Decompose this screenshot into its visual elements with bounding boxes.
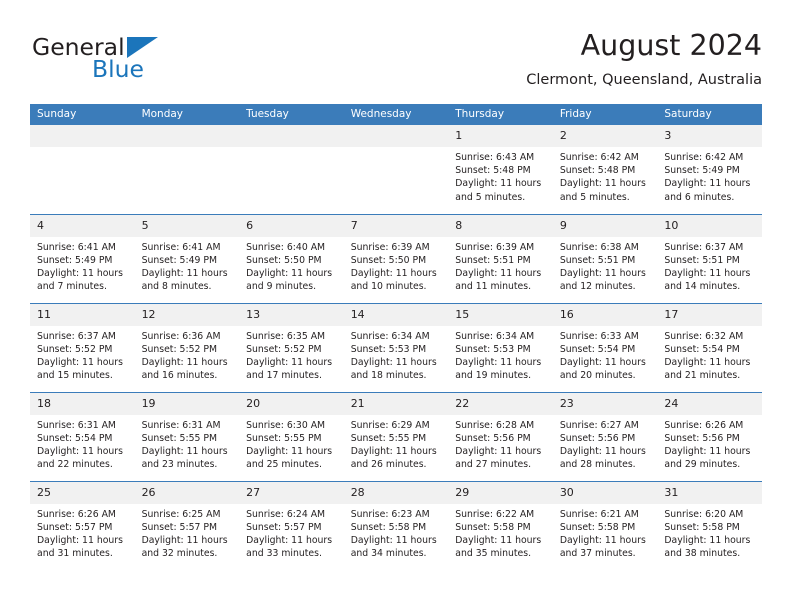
- day-details: Sunrise: 6:24 AMSunset: 5:57 PMDaylight:…: [239, 504, 344, 561]
- calendar-day-cell[interactable]: 18Sunrise: 6:31 AMSunset: 5:54 PMDayligh…: [30, 392, 135, 481]
- daylight-text: Daylight: 11 hours and 25 minutes.: [246, 445, 338, 471]
- sunset-text: Sunset: 5:52 PM: [246, 343, 338, 356]
- daylight-text: Daylight: 11 hours and 26 minutes.: [351, 445, 443, 471]
- daylight-text: Daylight: 11 hours and 19 minutes.: [455, 356, 547, 382]
- day-details: Sunrise: 6:43 AMSunset: 5:48 PMDaylight:…: [448, 147, 553, 204]
- day-number: 12: [135, 304, 240, 326]
- day-number: 15: [448, 304, 553, 326]
- day-details: Sunrise: 6:34 AMSunset: 5:53 PMDaylight:…: [448, 326, 553, 383]
- sunrise-text: Sunrise: 6:43 AM: [455, 151, 547, 164]
- sunset-text: Sunset: 5:54 PM: [37, 432, 129, 445]
- daylight-text: Daylight: 11 hours and 37 minutes.: [560, 534, 652, 560]
- sunrise-text: Sunrise: 6:25 AM: [142, 508, 234, 521]
- calendar-week-row: 25Sunrise: 6:26 AMSunset: 5:57 PMDayligh…: [30, 481, 762, 570]
- daylight-text: Daylight: 11 hours and 28 minutes.: [560, 445, 652, 471]
- day-number: 20: [239, 393, 344, 415]
- day-number: 14: [344, 304, 449, 326]
- day-details: Sunrise: 6:22 AMSunset: 5:58 PMDaylight:…: [448, 504, 553, 561]
- daylight-text: Daylight: 11 hours and 12 minutes.: [560, 267, 652, 293]
- day-details: Sunrise: 6:30 AMSunset: 5:55 PMDaylight:…: [239, 415, 344, 472]
- day-number: 24: [657, 393, 762, 415]
- sunrise-text: Sunrise: 6:35 AM: [246, 330, 338, 343]
- daylight-text: Daylight: 11 hours and 11 minutes.: [455, 267, 547, 293]
- sunset-text: Sunset: 5:51 PM: [664, 254, 756, 267]
- daylight-text: Daylight: 11 hours and 5 minutes.: [455, 177, 547, 203]
- calendar-day-cell[interactable]: 5Sunrise: 6:41 AMSunset: 5:49 PMDaylight…: [135, 214, 240, 303]
- calendar-day-cell[interactable]: 27Sunrise: 6:24 AMSunset: 5:57 PMDayligh…: [239, 481, 344, 570]
- day-details: Sunrise: 6:20 AMSunset: 5:58 PMDaylight:…: [657, 504, 762, 561]
- day-details: Sunrise: 6:26 AMSunset: 5:57 PMDaylight:…: [30, 504, 135, 561]
- day-number: 19: [135, 393, 240, 415]
- sunrise-text: Sunrise: 6:32 AM: [664, 330, 756, 343]
- brand-name-blue: Blue: [92, 56, 144, 82]
- sunset-text: Sunset: 5:53 PM: [351, 343, 443, 356]
- day-number: 10: [657, 215, 762, 237]
- sunset-text: Sunset: 5:51 PM: [455, 254, 547, 267]
- day-number: 9: [553, 215, 658, 237]
- calendar-day-cell[interactable]: 17Sunrise: 6:32 AMSunset: 5:54 PMDayligh…: [657, 303, 762, 392]
- sunset-text: Sunset: 5:55 PM: [351, 432, 443, 445]
- daylight-text: Daylight: 11 hours and 22 minutes.: [37, 445, 129, 471]
- sunrise-text: Sunrise: 6:38 AM: [560, 241, 652, 254]
- calendar-day-cell-empty: [30, 125, 135, 214]
- calendar-day-cell[interactable]: 8Sunrise: 6:39 AMSunset: 5:51 PMDaylight…: [448, 214, 553, 303]
- daylight-text: Daylight: 11 hours and 14 minutes.: [664, 267, 756, 293]
- sunset-text: Sunset: 5:57 PM: [142, 521, 234, 534]
- calendar-day-cell[interactable]: 31Sunrise: 6:20 AMSunset: 5:58 PMDayligh…: [657, 481, 762, 570]
- calendar-day-cell[interactable]: 7Sunrise: 6:39 AMSunset: 5:50 PMDaylight…: [344, 214, 449, 303]
- day-details: Sunrise: 6:41 AMSunset: 5:49 PMDaylight:…: [135, 237, 240, 294]
- day-details: Sunrise: 6:26 AMSunset: 5:56 PMDaylight:…: [657, 415, 762, 472]
- calendar-day-cell[interactable]: 1Sunrise: 6:43 AMSunset: 5:48 PMDaylight…: [448, 125, 553, 214]
- weekday-header-monday: Monday: [135, 104, 240, 125]
- calendar-week-row: 18Sunrise: 6:31 AMSunset: 5:54 PMDayligh…: [30, 392, 762, 481]
- day-details: Sunrise: 6:41 AMSunset: 5:49 PMDaylight:…: [30, 237, 135, 294]
- sunrise-text: Sunrise: 6:39 AM: [351, 241, 443, 254]
- day-number: 26: [135, 482, 240, 504]
- day-number: [344, 125, 449, 147]
- day-number: 2: [553, 125, 658, 147]
- daylight-text: Daylight: 11 hours and 27 minutes.: [455, 445, 547, 471]
- day-number: [239, 125, 344, 147]
- calendar-day-cell[interactable]: 12Sunrise: 6:36 AMSunset: 5:52 PMDayligh…: [135, 303, 240, 392]
- day-details: Sunrise: 6:34 AMSunset: 5:53 PMDaylight:…: [344, 326, 449, 383]
- day-number: 8: [448, 215, 553, 237]
- day-details: Sunrise: 6:29 AMSunset: 5:55 PMDaylight:…: [344, 415, 449, 472]
- sunset-text: Sunset: 5:51 PM: [560, 254, 652, 267]
- sunrise-text: Sunrise: 6:42 AM: [664, 151, 756, 164]
- day-details: Sunrise: 6:38 AMSunset: 5:51 PMDaylight:…: [553, 237, 658, 294]
- sunrise-text: Sunrise: 6:34 AM: [351, 330, 443, 343]
- calendar-day-cell[interactable]: 9Sunrise: 6:38 AMSunset: 5:51 PMDaylight…: [553, 214, 658, 303]
- sunset-text: Sunset: 5:49 PM: [142, 254, 234, 267]
- sunset-text: Sunset: 5:56 PM: [664, 432, 756, 445]
- day-number: 16: [553, 304, 658, 326]
- day-number: [135, 125, 240, 147]
- sunset-text: Sunset: 5:58 PM: [560, 521, 652, 534]
- calendar-day-cell[interactable]: 28Sunrise: 6:23 AMSunset: 5:58 PMDayligh…: [344, 481, 449, 570]
- brand-logo[interactable]: General Blue: [32, 34, 252, 92]
- daylight-text: Daylight: 11 hours and 31 minutes.: [37, 534, 129, 560]
- daylight-text: Daylight: 11 hours and 5 minutes.: [560, 177, 652, 203]
- sunset-text: Sunset: 5:55 PM: [246, 432, 338, 445]
- sunset-text: Sunset: 5:48 PM: [455, 164, 547, 177]
- sunset-text: Sunset: 5:57 PM: [246, 521, 338, 534]
- calendar-grid: SundayMondayTuesdayWednesdayThursdayFrid…: [30, 104, 762, 570]
- daylight-text: Daylight: 11 hours and 6 minutes.: [664, 177, 756, 203]
- day-number: 29: [448, 482, 553, 504]
- sunrise-text: Sunrise: 6:21 AM: [560, 508, 652, 521]
- day-number: 27: [239, 482, 344, 504]
- calendar-table: SundayMondayTuesdayWednesdayThursdayFrid…: [30, 104, 762, 570]
- daylight-text: Daylight: 11 hours and 20 minutes.: [560, 356, 652, 382]
- daylight-text: Daylight: 11 hours and 10 minutes.: [351, 267, 443, 293]
- calendar-day-cell[interactable]: 2Sunrise: 6:42 AMSunset: 5:48 PMDaylight…: [553, 125, 658, 214]
- day-details: Sunrise: 6:42 AMSunset: 5:48 PMDaylight:…: [553, 147, 658, 204]
- calendar-day-cell-empty: [344, 125, 449, 214]
- calendar-week-row: 1Sunrise: 6:43 AMSunset: 5:48 PMDaylight…: [30, 125, 762, 214]
- day-details: Sunrise: 6:42 AMSunset: 5:49 PMDaylight:…: [657, 147, 762, 204]
- calendar-week-row: 11Sunrise: 6:37 AMSunset: 5:52 PMDayligh…: [30, 303, 762, 392]
- sunset-text: Sunset: 5:58 PM: [351, 521, 443, 534]
- day-details: Sunrise: 6:36 AMSunset: 5:52 PMDaylight:…: [135, 326, 240, 383]
- sunrise-text: Sunrise: 6:26 AM: [37, 508, 129, 521]
- calendar-day-cell[interactable]: 6Sunrise: 6:40 AMSunset: 5:50 PMDaylight…: [239, 214, 344, 303]
- day-number: [30, 125, 135, 147]
- day-number: 23: [553, 393, 658, 415]
- calendar-day-cell[interactable]: 19Sunrise: 6:31 AMSunset: 5:55 PMDayligh…: [135, 392, 240, 481]
- sunset-text: Sunset: 5:58 PM: [455, 521, 547, 534]
- calendar-day-cell[interactable]: 11Sunrise: 6:37 AMSunset: 5:52 PMDayligh…: [30, 303, 135, 392]
- sunrise-text: Sunrise: 6:28 AM: [455, 419, 547, 432]
- day-number: 31: [657, 482, 762, 504]
- day-details: Sunrise: 6:21 AMSunset: 5:58 PMDaylight:…: [553, 504, 658, 561]
- day-number: 25: [30, 482, 135, 504]
- day-details: Sunrise: 6:37 AMSunset: 5:51 PMDaylight:…: [657, 237, 762, 294]
- calendar-day-cell[interactable]: 23Sunrise: 6:27 AMSunset: 5:56 PMDayligh…: [553, 392, 658, 481]
- daylight-text: Daylight: 11 hours and 32 minutes.: [142, 534, 234, 560]
- sunset-text: Sunset: 5:50 PM: [246, 254, 338, 267]
- sunrise-text: Sunrise: 6:42 AM: [560, 151, 652, 164]
- sunrise-text: Sunrise: 6:31 AM: [142, 419, 234, 432]
- calendar-day-cell-empty: [239, 125, 344, 214]
- sunset-text: Sunset: 5:56 PM: [560, 432, 652, 445]
- day-details: Sunrise: 6:32 AMSunset: 5:54 PMDaylight:…: [657, 326, 762, 383]
- day-number: 21: [344, 393, 449, 415]
- day-number: 30: [553, 482, 658, 504]
- daylight-text: Daylight: 11 hours and 7 minutes.: [37, 267, 129, 293]
- day-number: 22: [448, 393, 553, 415]
- sunset-text: Sunset: 5:57 PM: [37, 521, 129, 534]
- weekday-header-wednesday: Wednesday: [344, 104, 449, 125]
- sunrise-text: Sunrise: 6:37 AM: [664, 241, 756, 254]
- day-number: 5: [135, 215, 240, 237]
- calendar-header-row: SundayMondayTuesdayWednesdayThursdayFrid…: [30, 104, 762, 125]
- calendar-page: General Blue August 2024 Clermont, Queen…: [0, 0, 792, 612]
- sunset-text: Sunset: 5:49 PM: [37, 254, 129, 267]
- daylight-text: Daylight: 11 hours and 23 minutes.: [142, 445, 234, 471]
- sunrise-text: Sunrise: 6:36 AM: [142, 330, 234, 343]
- day-number: 3: [657, 125, 762, 147]
- sunrise-text: Sunrise: 6:30 AM: [246, 419, 338, 432]
- calendar-day-cell[interactable]: 22Sunrise: 6:28 AMSunset: 5:56 PMDayligh…: [448, 392, 553, 481]
- day-number: 18: [30, 393, 135, 415]
- day-number: 11: [30, 304, 135, 326]
- sunset-text: Sunset: 5:52 PM: [37, 343, 129, 356]
- calendar-day-cell[interactable]: 25Sunrise: 6:26 AMSunset: 5:57 PMDayligh…: [30, 481, 135, 570]
- sunrise-text: Sunrise: 6:33 AM: [560, 330, 652, 343]
- sunrise-text: Sunrise: 6:23 AM: [351, 508, 443, 521]
- sunset-text: Sunset: 5:50 PM: [351, 254, 443, 267]
- calendar-day-cell[interactable]: 26Sunrise: 6:25 AMSunset: 5:57 PMDayligh…: [135, 481, 240, 570]
- weekday-header-saturday: Saturday: [657, 104, 762, 125]
- page-header: General Blue August 2024 Clermont, Queen…: [30, 28, 762, 96]
- sunrise-text: Sunrise: 6:29 AM: [351, 419, 443, 432]
- weekday-header-friday: Friday: [553, 104, 658, 125]
- day-details: Sunrise: 6:35 AMSunset: 5:52 PMDaylight:…: [239, 326, 344, 383]
- sunrise-text: Sunrise: 6:20 AM: [664, 508, 756, 521]
- daylight-text: Daylight: 11 hours and 33 minutes.: [246, 534, 338, 560]
- calendar-day-cell[interactable]: 20Sunrise: 6:30 AMSunset: 5:55 PMDayligh…: [239, 392, 344, 481]
- day-details: Sunrise: 6:33 AMSunset: 5:54 PMDaylight:…: [553, 326, 658, 383]
- day-details: Sunrise: 6:23 AMSunset: 5:58 PMDaylight:…: [344, 504, 449, 561]
- sunrise-text: Sunrise: 6:41 AM: [37, 241, 129, 254]
- daylight-text: Daylight: 11 hours and 29 minutes.: [664, 445, 756, 471]
- day-details: Sunrise: 6:25 AMSunset: 5:57 PMDaylight:…: [135, 504, 240, 561]
- day-number: 7: [344, 215, 449, 237]
- day-number: 1: [448, 125, 553, 147]
- sunrise-text: Sunrise: 6:27 AM: [560, 419, 652, 432]
- sunset-text: Sunset: 5:53 PM: [455, 343, 547, 356]
- calendar-day-cell[interactable]: 30Sunrise: 6:21 AMSunset: 5:58 PMDayligh…: [553, 481, 658, 570]
- calendar-body: 1Sunrise: 6:43 AMSunset: 5:48 PMDaylight…: [30, 125, 762, 570]
- title-block: August 2024 Clermont, Queensland, Austra…: [526, 28, 762, 89]
- sunrise-text: Sunrise: 6:22 AM: [455, 508, 547, 521]
- day-details: Sunrise: 6:27 AMSunset: 5:56 PMDaylight:…: [553, 415, 658, 472]
- day-details: Sunrise: 6:28 AMSunset: 5:56 PMDaylight:…: [448, 415, 553, 472]
- day-number: 6: [239, 215, 344, 237]
- daylight-text: Daylight: 11 hours and 8 minutes.: [142, 267, 234, 293]
- sunrise-text: Sunrise: 6:41 AM: [142, 241, 234, 254]
- calendar-day-cell[interactable]: 13Sunrise: 6:35 AMSunset: 5:52 PMDayligh…: [239, 303, 344, 392]
- day-number: 17: [657, 304, 762, 326]
- daylight-text: Daylight: 11 hours and 34 minutes.: [351, 534, 443, 560]
- calendar-day-cell[interactable]: 3Sunrise: 6:42 AMSunset: 5:49 PMDaylight…: [657, 125, 762, 214]
- sunrise-text: Sunrise: 6:37 AM: [37, 330, 129, 343]
- calendar-day-cell[interactable]: 15Sunrise: 6:34 AMSunset: 5:53 PMDayligh…: [448, 303, 553, 392]
- daylight-text: Daylight: 11 hours and 35 minutes.: [455, 534, 547, 560]
- day-details: Sunrise: 6:39 AMSunset: 5:51 PMDaylight:…: [448, 237, 553, 294]
- sunrise-text: Sunrise: 6:39 AM: [455, 241, 547, 254]
- daylight-text: Daylight: 11 hours and 18 minutes.: [351, 356, 443, 382]
- daylight-text: Daylight: 11 hours and 17 minutes.: [246, 356, 338, 382]
- sunset-text: Sunset: 5:54 PM: [560, 343, 652, 356]
- sunrise-text: Sunrise: 6:24 AM: [246, 508, 338, 521]
- sunset-text: Sunset: 5:54 PM: [664, 343, 756, 356]
- sunset-text: Sunset: 5:48 PM: [560, 164, 652, 177]
- calendar-day-cell[interactable]: 10Sunrise: 6:37 AMSunset: 5:51 PMDayligh…: [657, 214, 762, 303]
- daylight-text: Daylight: 11 hours and 21 minutes.: [664, 356, 756, 382]
- daylight-text: Daylight: 11 hours and 9 minutes.: [246, 267, 338, 293]
- sunset-text: Sunset: 5:49 PM: [664, 164, 756, 177]
- day-number: 13: [239, 304, 344, 326]
- calendar-day-cell[interactable]: 24Sunrise: 6:26 AMSunset: 5:56 PMDayligh…: [657, 392, 762, 481]
- sunrise-text: Sunrise: 6:26 AM: [664, 419, 756, 432]
- calendar-day-cell[interactable]: 21Sunrise: 6:29 AMSunset: 5:55 PMDayligh…: [344, 392, 449, 481]
- weekday-header-sunday: Sunday: [30, 104, 135, 125]
- day-details: Sunrise: 6:31 AMSunset: 5:55 PMDaylight:…: [135, 415, 240, 472]
- daylight-text: Daylight: 11 hours and 38 minutes.: [664, 534, 756, 560]
- calendar-day-cell[interactable]: 29Sunrise: 6:22 AMSunset: 5:58 PMDayligh…: [448, 481, 553, 570]
- weekday-header-tuesday: Tuesday: [239, 104, 344, 125]
- page-title: August 2024: [526, 28, 762, 64]
- sunrise-text: Sunrise: 6:34 AM: [455, 330, 547, 343]
- day-details: Sunrise: 6:31 AMSunset: 5:54 PMDaylight:…: [30, 415, 135, 472]
- day-number: 28: [344, 482, 449, 504]
- calendar-day-cell-empty: [135, 125, 240, 214]
- day-details: Sunrise: 6:39 AMSunset: 5:50 PMDaylight:…: [344, 237, 449, 294]
- day-number: 4: [30, 215, 135, 237]
- day-details: Sunrise: 6:37 AMSunset: 5:52 PMDaylight:…: [30, 326, 135, 383]
- calendar-week-row: 4Sunrise: 6:41 AMSunset: 5:49 PMDaylight…: [30, 214, 762, 303]
- weekday-header-row: SundayMondayTuesdayWednesdayThursdayFrid…: [30, 104, 762, 125]
- daylight-text: Daylight: 11 hours and 15 minutes.: [37, 356, 129, 382]
- calendar-day-cell[interactable]: 16Sunrise: 6:33 AMSunset: 5:54 PMDayligh…: [553, 303, 658, 392]
- sunset-text: Sunset: 5:56 PM: [455, 432, 547, 445]
- weekday-header-thursday: Thursday: [448, 104, 553, 125]
- daylight-text: Daylight: 11 hours and 16 minutes.: [142, 356, 234, 382]
- sunrise-text: Sunrise: 6:40 AM: [246, 241, 338, 254]
- sunrise-text: Sunrise: 6:31 AM: [37, 419, 129, 432]
- sunset-text: Sunset: 5:52 PM: [142, 343, 234, 356]
- sunset-text: Sunset: 5:58 PM: [664, 521, 756, 534]
- day-details: Sunrise: 6:40 AMSunset: 5:50 PMDaylight:…: [239, 237, 344, 294]
- calendar-day-cell[interactable]: 4Sunrise: 6:41 AMSunset: 5:49 PMDaylight…: [30, 214, 135, 303]
- location-subtitle: Clermont, Queensland, Australia: [526, 71, 762, 89]
- sunset-text: Sunset: 5:55 PM: [142, 432, 234, 445]
- calendar-day-cell[interactable]: 14Sunrise: 6:34 AMSunset: 5:53 PMDayligh…: [344, 303, 449, 392]
